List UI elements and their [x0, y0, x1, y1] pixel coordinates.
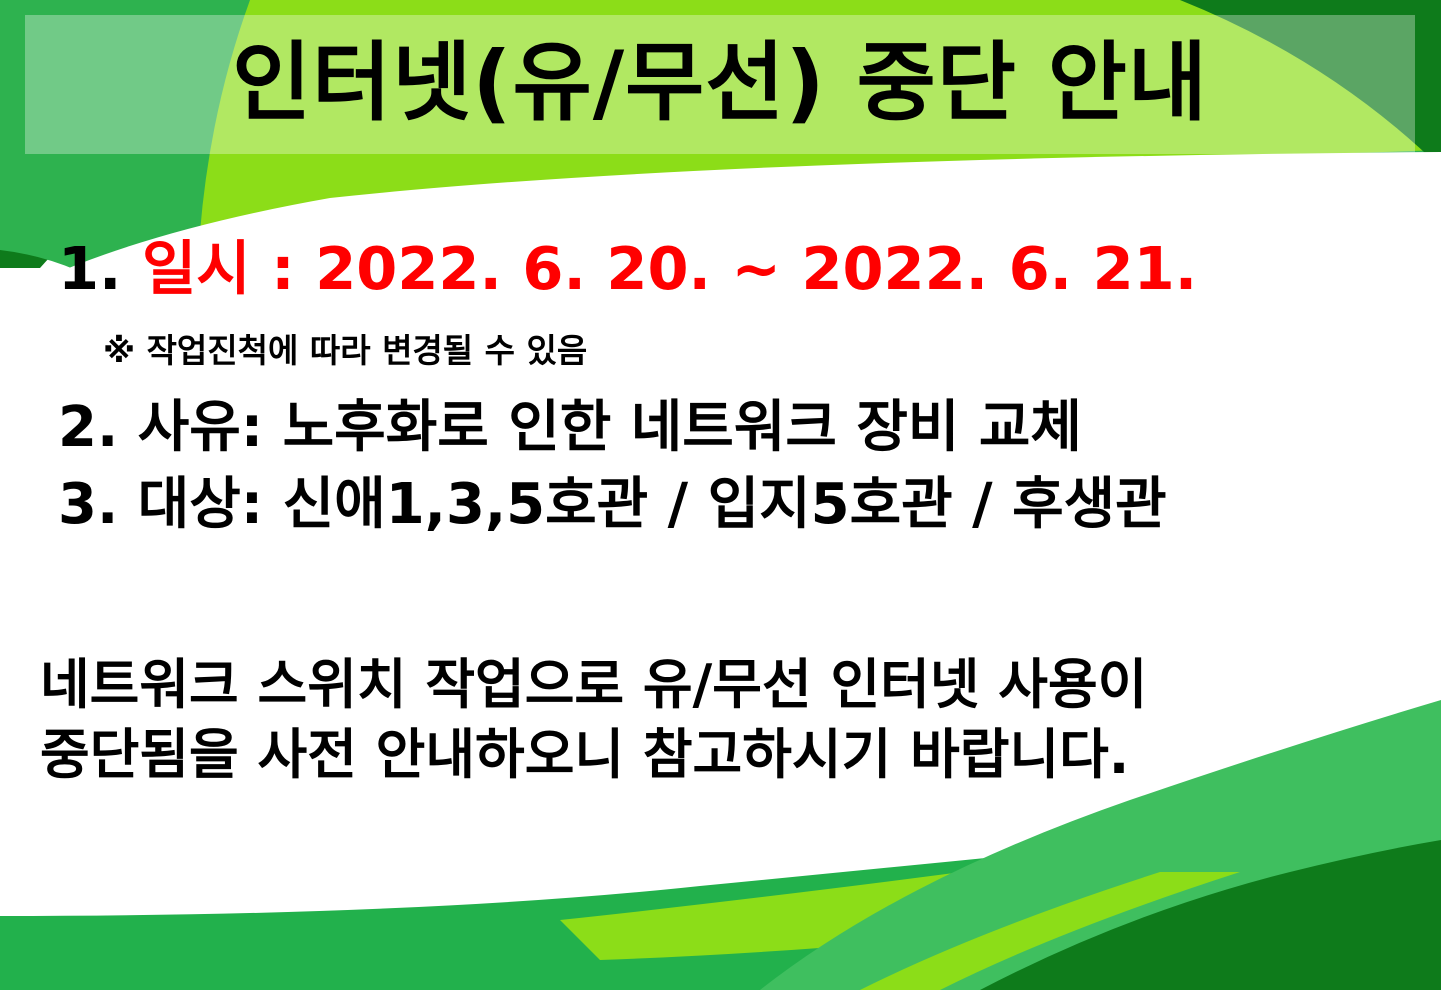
item-date-number: 1.	[58, 234, 121, 303]
item-target: 3. 대상: 신애1,3,5호관 / 입지5호관 / 후생관	[58, 477, 1167, 533]
item-date-line: 1. 일시 : 2022. 6. 20. ~ 2022. 6. 21.	[58, 239, 1197, 298]
body-paragraph-line-2: 중단됨을 사전 안내하오니 참고하시기 바랍니다.	[40, 720, 1400, 790]
body-paragraph: 네트워크 스위치 작업으로 유/무선 인터넷 사용이 중단됨을 사전 안내하오니…	[40, 650, 1400, 789]
notice-poster: 인터넷(유/무선) 중단 안내 1. 일시 : 2022. 6. 20. ~ 2…	[0, 0, 1441, 990]
item-reason: 2. 사유: 노후화로 인한 네트워크 장비 교체	[58, 400, 1082, 456]
body-paragraph-line-1: 네트워크 스위치 작업으로 유/무선 인터넷 사용이	[40, 650, 1400, 720]
item-date-value: 일시 : 2022. 6. 20. ~ 2022. 6. 21.	[142, 234, 1197, 303]
item-date-note: ※ 작업진척에 따라 변경될 수 있음	[103, 334, 587, 367]
poster-content: 1. 일시 : 2022. 6. 20. ~ 2022. 6. 21. ※ 작업…	[0, 0, 1441, 990]
